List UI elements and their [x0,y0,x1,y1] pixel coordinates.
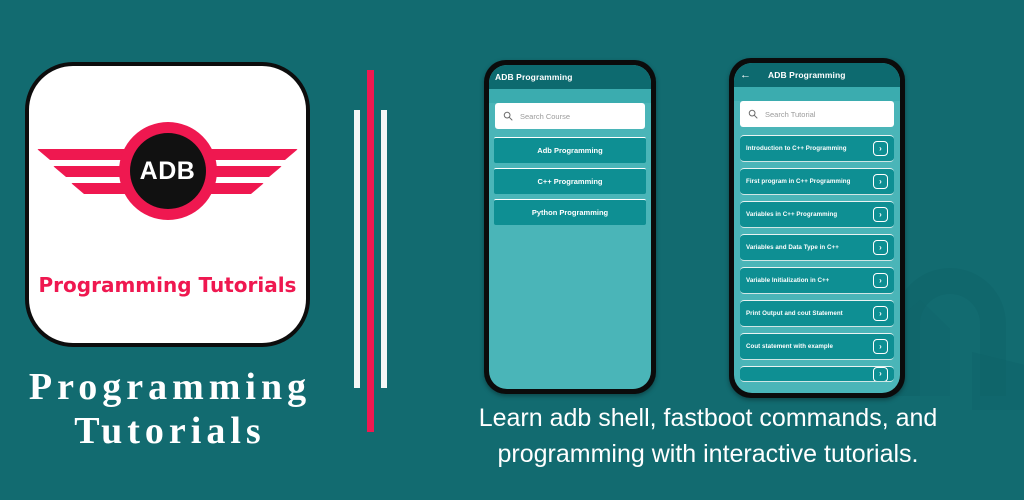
tutorial-list-item[interactable]: Cout statement with example › [740,333,894,360]
course-label: Adb Programming [537,146,602,155]
tutorial-label: First program in C++ Programming [746,178,850,185]
app-icon-caption: Programming Tutorials [29,273,306,297]
tagline-line-2: programming with interactive tutorials. [400,436,1016,472]
divider-bar-white-left [354,110,360,388]
tutorial-label: Variable Initialization in C++ [746,277,829,284]
divider-bar-pink [367,70,374,432]
courses-screen: ADB Programming Search Course Adb Progra… [489,65,651,389]
search-icon [748,109,758,119]
chevron-right-icon[interactable]: › [873,273,888,288]
tagline-line-1: Learn adb shell, fastboot commands, and [479,404,938,432]
tutorial-list-item[interactable]: Variables and Data Type in C++ › [740,234,894,261]
tutorials-screen: ← ADB Programming Search Tutorial Introd… [734,63,900,393]
tagline: Learn adb shell, fastboot commands, and … [400,400,1016,472]
tutorial-list-item[interactable]: Variable Initialization in C++ › [740,267,894,294]
chevron-right-icon[interactable]: › [873,367,888,382]
back-arrow-icon[interactable]: ← [740,70,751,81]
search-tutorial-input[interactable]: Search Tutorial [740,101,894,127]
course-list-item[interactable]: C++ Programming [494,168,646,194]
tutorials-appbar: ← ADB Programming [734,63,900,87]
logo-text: ADB [140,157,196,186]
tutorial-list-item[interactable]: First program in C++ Programming › [740,168,894,195]
course-list-item[interactable]: Adb Programming [494,137,646,163]
chevron-right-icon[interactable]: › [873,240,888,255]
tutorial-label: Variables in C++ Programming [746,211,837,218]
tutorials-appbar-spacer [734,87,900,101]
logo-ring: ADB [119,122,217,220]
tutorial-label: Print Output and cout Statement [746,310,843,317]
course-list-item[interactable]: Python Programming [494,199,646,225]
search-course-placeholder: Search Course [520,112,570,121]
search-icon [503,111,513,121]
promo-banner: ADB Programming Tutorials Programming Tu… [0,0,1024,500]
chevron-right-icon[interactable]: › [873,141,888,156]
divider-bar-white-right [381,110,387,388]
tutorial-list-item[interactable]: Variables in C++ Programming › [740,201,894,228]
tutorial-label: Cout statement with example [746,343,833,350]
course-label: C++ Programming [537,177,602,186]
tutorials-appbar-title: ADB Programming [758,70,846,80]
courses-appbar-title: ADB Programming [495,72,573,82]
search-tutorial-placeholder: Search Tutorial [765,110,815,119]
search-course-input[interactable]: Search Course [495,103,645,129]
tutorial-label: Introduction to C++ Programming [746,145,847,152]
phone-mockup-tutorials: ← ADB Programming Search Tutorial Introd… [729,58,905,398]
chevron-right-icon[interactable]: › [873,339,888,354]
chevron-right-icon[interactable]: › [873,207,888,222]
courses-appbar-spacer [489,89,651,103]
tutorial-list-item[interactable]: Introduction to C++ Programming › [740,135,894,162]
page-title: Programming Tutorials [14,365,326,453]
page-title-line-2: Tutorials [14,409,326,453]
phone-mockup-courses: ADB Programming Search Course Adb Progra… [484,60,656,394]
tutorial-list-item[interactable]: Print Output and cout Statement › [740,300,894,327]
course-list: Adb Programming C++ Programming Python P… [489,137,651,225]
background-watermark-arch [894,268,1006,396]
courses-appbar: ADB Programming [489,65,651,89]
tutorial-label: Variables and Data Type in C++ [746,244,839,251]
page-title-line-1: Programming [29,366,311,408]
tutorial-list: Introduction to C++ Programming › First … [734,135,900,382]
chevron-right-icon[interactable]: › [873,174,888,189]
tutorial-list-item-partial[interactable]: › [740,366,894,382]
logo-disc: ADB [130,133,206,209]
adb-logo: ADB [29,122,306,252]
chevron-right-icon[interactable]: › [873,306,888,321]
course-label: Python Programming [532,208,608,217]
app-icon: ADB Programming Tutorials [25,62,310,347]
